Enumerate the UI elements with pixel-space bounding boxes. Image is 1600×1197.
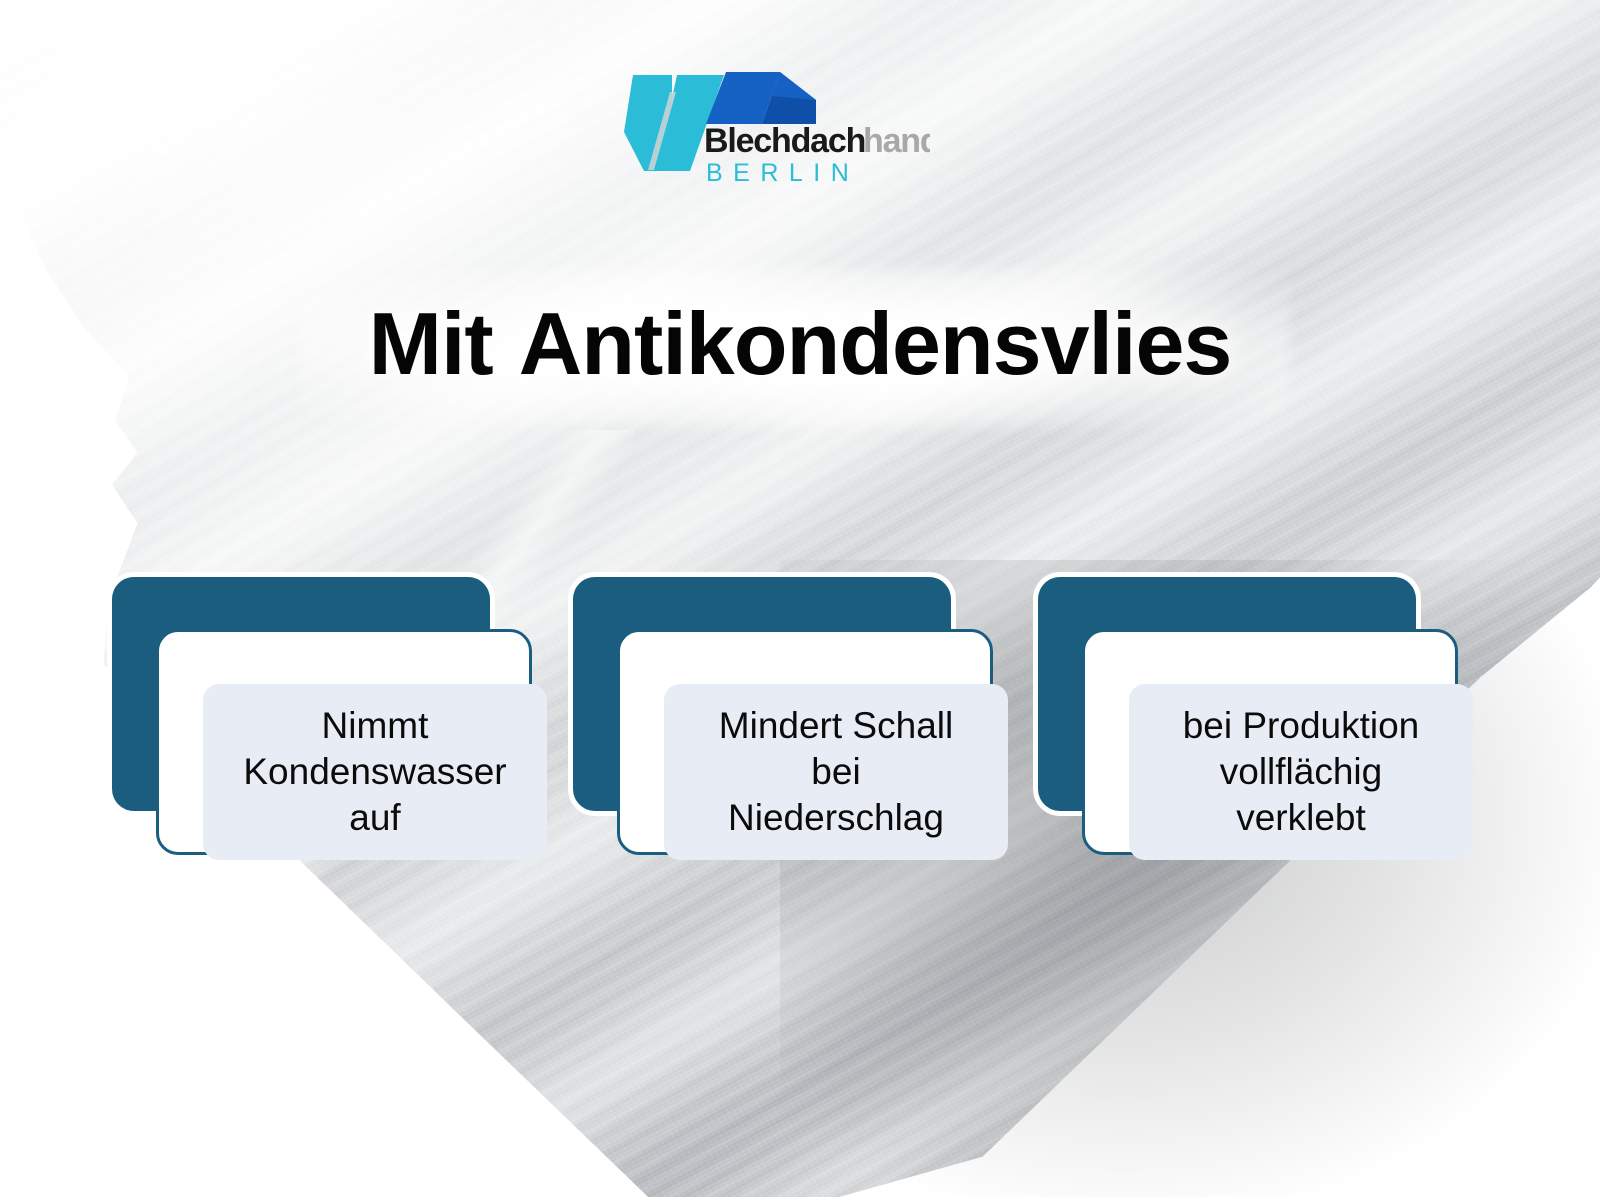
promotional-banner: Blechdach handel BERLIN MitAntikondensvl… — [0, 0, 1600, 1197]
card-text-area: Mindert Schall bei Niederschlag — [664, 684, 1008, 860]
card-front-panel: Mindert Schall bei Niederschlag — [617, 629, 993, 855]
page-title: MitAntikondensvlies — [0, 300, 1600, 388]
logo-svg: Blechdach handel BERLIN — [620, 66, 930, 186]
card-label: Nimmt Kondenswasser auf — [239, 703, 510, 842]
headline-word-1: Mit — [369, 294, 493, 393]
card-label: bei Produktion vollflächig verklebt — [1179, 703, 1424, 842]
logo-wordmark-primary: Blechdach — [704, 122, 865, 160]
logo-wordmark-city: BERLIN — [706, 159, 859, 186]
logo-wordmark-secondary: handel — [863, 122, 930, 160]
card-front-panel: Nimmt Kondenswasser auf — [156, 629, 532, 855]
card-label: Mindert Schall bei Niederschlag — [715, 703, 957, 842]
card-front-panel: bei Produktion vollflächig verklebt — [1082, 629, 1458, 855]
card-text-area: bei Produktion vollflächig verklebt — [1129, 684, 1473, 860]
feature-card-fully-bonded[interactable]: bei Produktion vollflächig verklebt — [1038, 577, 1458, 857]
feature-card-reduces-noise[interactable]: Mindert Schall bei Niederschlag — [573, 577, 993, 857]
headline-word-2: Antikondensvlies — [519, 294, 1232, 393]
feature-card-absorbs-condensation[interactable]: Nimmt Kondenswasser auf — [112, 577, 532, 857]
company-logo[interactable]: Blechdach handel BERLIN — [620, 66, 930, 186]
card-text-area: Nimmt Kondenswasser auf — [203, 684, 547, 860]
